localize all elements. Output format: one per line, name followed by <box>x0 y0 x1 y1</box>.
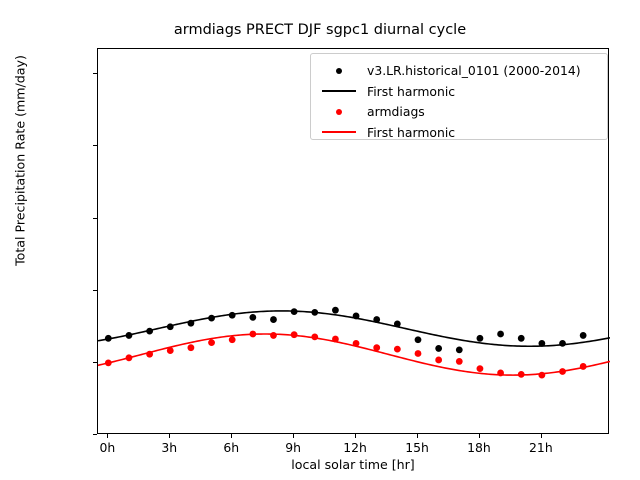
data-point <box>456 358 463 365</box>
x-tick-label: 6h <box>209 440 253 455</box>
harmonic-curve <box>98 334 610 375</box>
x-tick-label: 18h <box>457 440 501 455</box>
legend-marker-line <box>322 131 356 133</box>
y-tick-mark <box>93 434 97 435</box>
data-point <box>559 340 566 347</box>
legend-marker-line <box>322 90 356 92</box>
data-point <box>249 314 256 321</box>
data-point <box>332 307 339 314</box>
legend-label: armdiags <box>367 104 425 119</box>
data-point <box>477 365 484 372</box>
y-axis-label: Total Precipitation Rate (mm/day) <box>13 0 28 331</box>
chart-title: armdiags PRECT DJF sgpc1 diurnal cycle <box>0 22 640 38</box>
data-point <box>435 345 442 352</box>
data-point <box>580 332 587 339</box>
x-axis-label: local solar time [hr] <box>97 457 609 472</box>
legend-label: First harmonic <box>367 125 455 140</box>
legend-label: v3.LR.historical_0101 (2000-2014) <box>367 63 581 78</box>
legend-box: v3.LR.historical_0101 (2000-2014)First h… <box>310 53 608 140</box>
figure-canvas: armdiags PRECT DJF sgpc1 diurnal cycle T… <box>0 0 640 480</box>
data-point <box>208 339 215 346</box>
data-point <box>415 336 422 343</box>
data-point <box>415 350 422 357</box>
data-point <box>270 332 277 339</box>
data-point <box>394 346 401 353</box>
x-tick-label: 15h <box>395 440 439 455</box>
legend-entry: armdiags <box>311 101 609 122</box>
data-point <box>477 335 484 342</box>
data-point <box>229 336 236 343</box>
legend-label: First harmonic <box>367 84 455 99</box>
legend-entry: First harmonic <box>311 122 609 143</box>
x-tick-label: 3h <box>147 440 191 455</box>
x-tick-label: 9h <box>271 440 315 455</box>
x-tick-label: 21h <box>519 440 563 455</box>
data-point <box>270 316 277 323</box>
data-point <box>518 335 525 342</box>
data-point <box>497 331 504 338</box>
data-point <box>435 357 442 364</box>
legend-marker-dot <box>336 68 342 74</box>
legend-marker-dot <box>336 109 342 115</box>
data-point <box>188 344 195 351</box>
x-tick-label: 0h <box>85 440 129 455</box>
legend-entry: v3.LR.historical_0101 (2000-2014) <box>311 60 609 81</box>
legend-entry: First harmonic <box>311 81 609 102</box>
data-point <box>456 346 463 353</box>
x-tick-label: 12h <box>333 440 377 455</box>
